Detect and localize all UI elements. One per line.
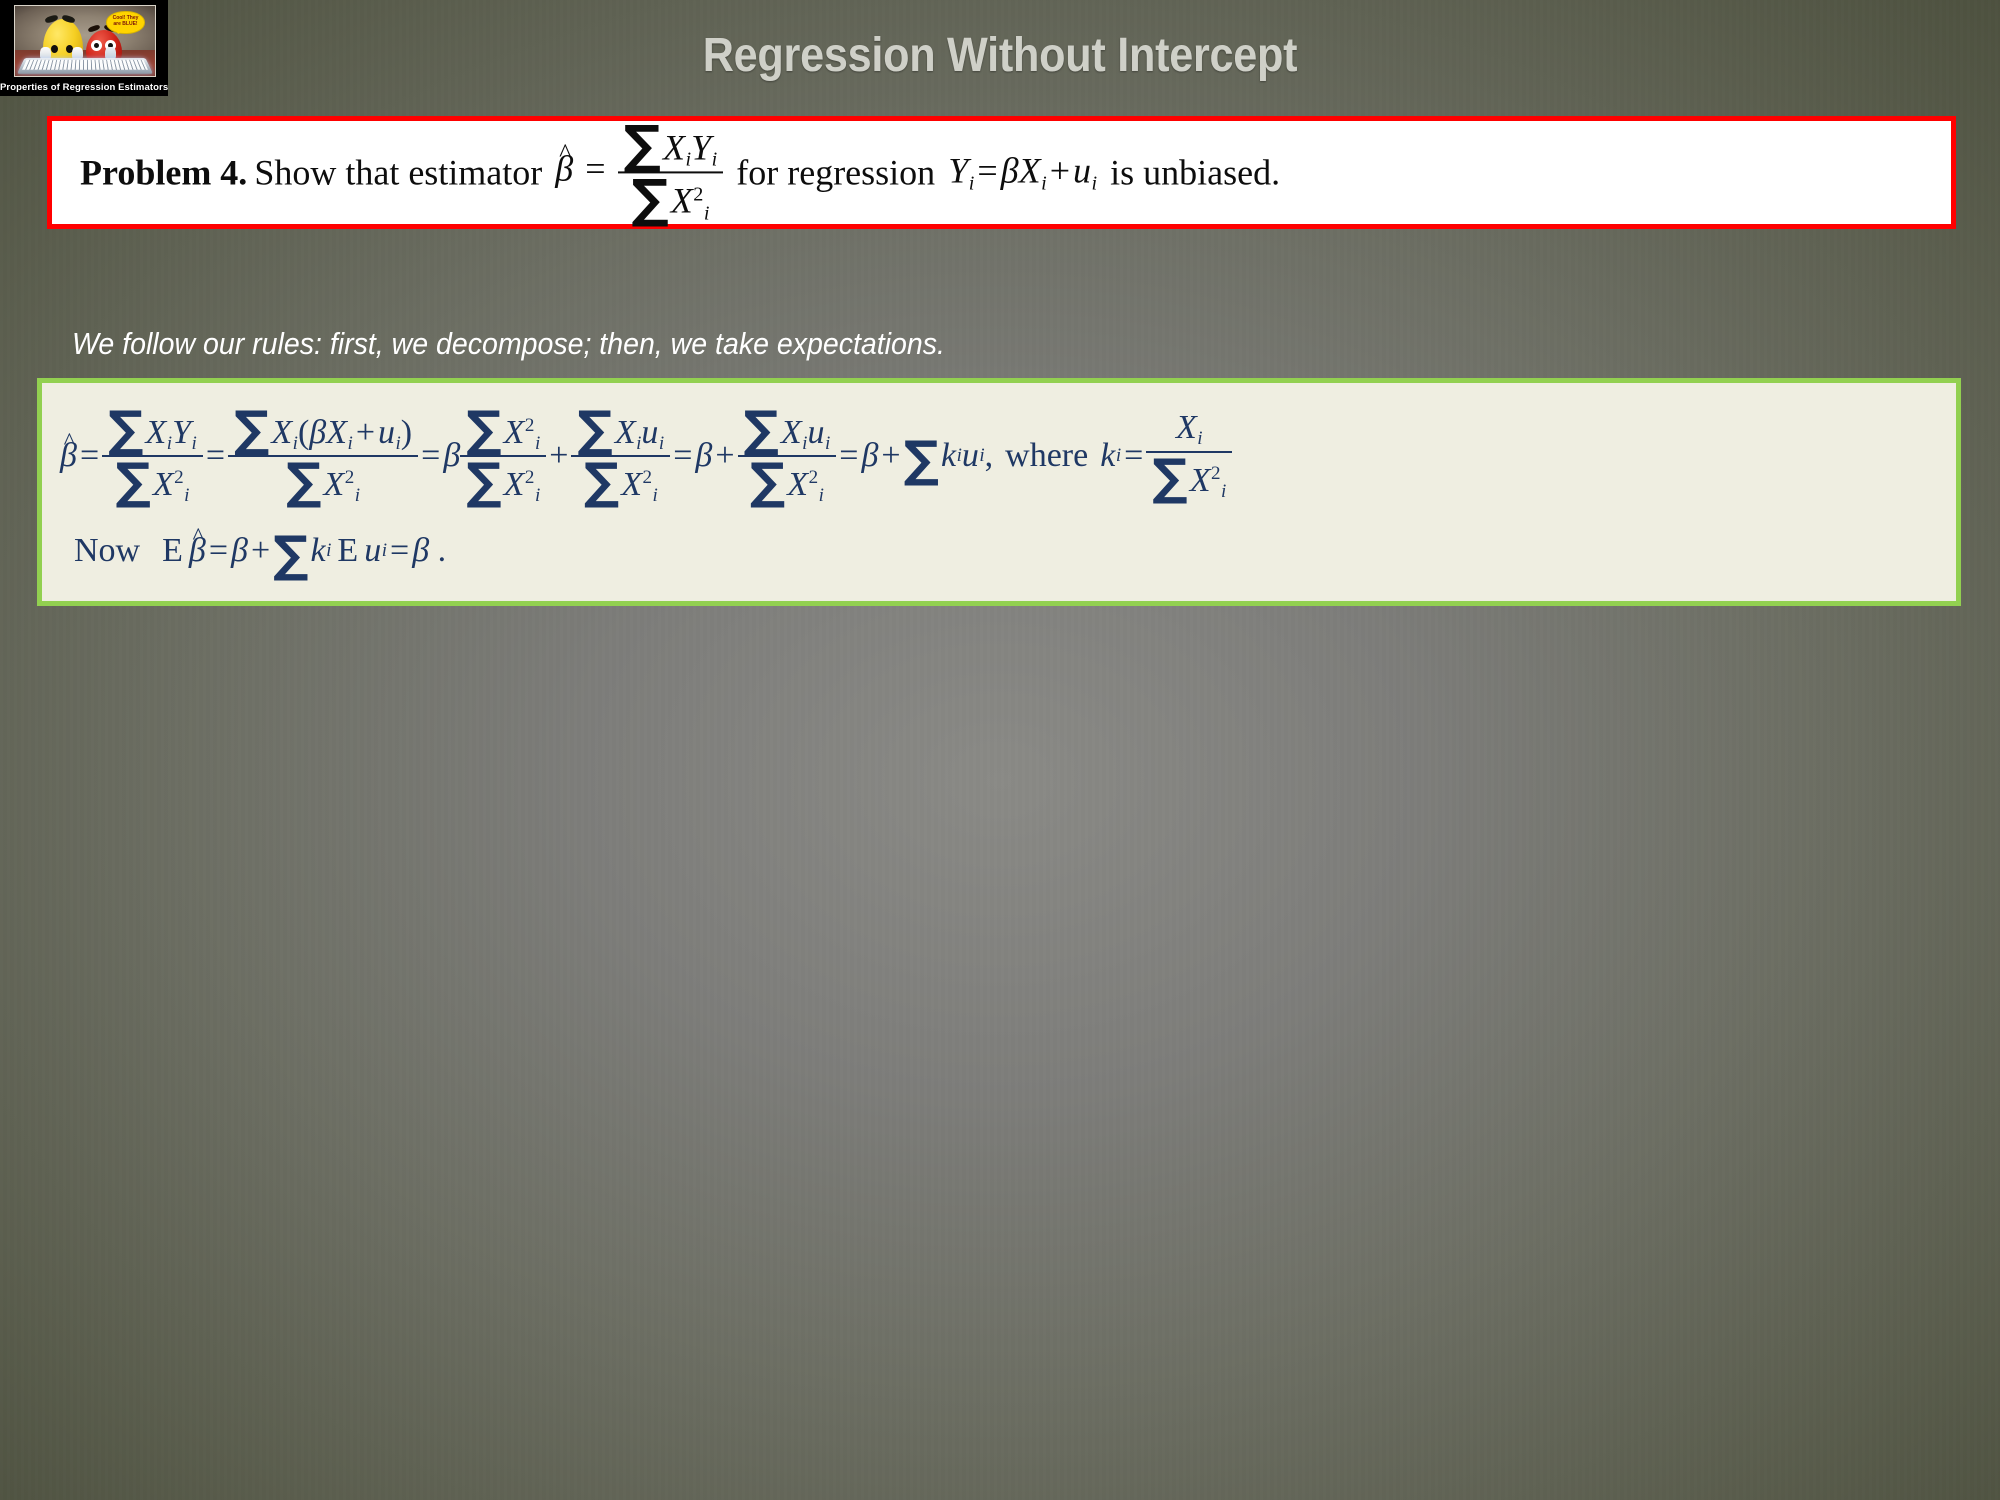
keyboard-icon [17,58,153,74]
beta-hat-symbol: ^β [555,148,573,190]
slide-canvas: Cool! They are BLUE! Properties of Regre… [0,0,2000,1500]
fraction-2: ∑Xi(βXi+ui) ∑X2i [228,405,418,507]
now-label: Now [74,532,140,570]
problem-text-2: for regression [736,152,935,194]
beta-hat-symbol: ^β [60,437,77,475]
thumbnail-caption: Properties of Regression Estimators [0,82,168,93]
derivation-box: ^β = ∑XiYi ∑X2i = ∑Xi(βXi+ui) ∑X2i = β ∑… [37,378,1961,606]
speech-bubble-text: Cool! They are BLUE! [109,15,142,30]
beta-symbol: β [861,437,878,475]
problem-statement-line: Problem 4. Show that estimator ^β = ∑XiY… [80,120,1280,225]
fraction-k: Xi ∑X2i [1146,409,1232,502]
expectation-operator: E [162,532,183,570]
speech-bubble-icon: Cool! They are BLUE! [107,12,144,33]
fraction-1: ∑XiYi ∑X2i [102,405,203,507]
estimator-fraction: ∑XiYi ∑X2i [618,120,724,225]
fraction-4: ∑Xiui ∑X2i [571,405,670,507]
estimator-equation: ^β = ∑XiYi ∑X2i [555,120,723,225]
problem-text-3: is unbiased. [1110,152,1280,194]
problem-label: Problem 4. [80,152,247,194]
fraction-5: ∑Xiui ∑X2i [738,405,837,507]
derivation-line-2: Now E ^β = β + ∑ki E ui = β . [60,515,1956,587]
method-note: We follow our rules: first, we decompose… [72,326,945,362]
red-character-eye-left-icon [91,40,102,51]
beta-symbol: β [412,532,429,570]
problem-statement-box: Problem 4. Show that estimator ^β = ∑XiY… [47,116,1956,229]
estimator-numerator: ∑XiYi [618,120,724,172]
regression-model-equation: Yi=βXi+ui [948,150,1097,195]
where-label: where [1005,437,1088,475]
beta-symbol: β [695,437,712,475]
yellow-character-brows-icon [45,16,79,23]
thumbnail-photo: Cool! They are BLUE! [14,5,156,77]
beta-symbol: β [443,437,460,475]
page-title: Regression Without Intercept [253,28,1747,83]
slide-thumbnail[interactable]: Cool! They are BLUE! Properties of Regre… [0,0,168,96]
problem-text-1: Show that estimator [254,152,542,194]
derivation-line-1: ^β = ∑XiYi ∑X2i = ∑Xi(βXi+ui) ∑X2i = β ∑… [60,397,1956,515]
beta-hat-symbol: ^β [189,532,206,570]
estimator-denominator: ∑X2i [625,174,715,226]
fraction-3: ∑X2i ∑X2i [460,405,546,507]
beta-symbol: β [231,532,248,570]
